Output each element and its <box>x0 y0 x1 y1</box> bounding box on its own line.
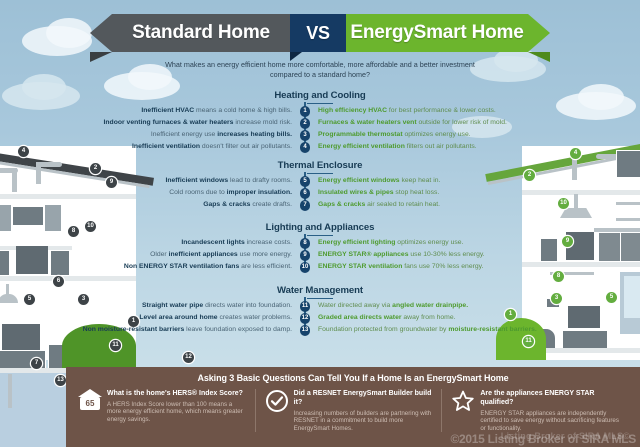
comparison-row: Cold rooms due to improper insulation.6I… <box>60 188 580 199</box>
section-water-management: Water ManagementStraight water pipe dire… <box>60 285 580 337</box>
standard-home-text: Inefficient ventilation doesn't filter o… <box>60 142 297 151</box>
pin-standard-5: 5 <box>24 294 35 305</box>
standard-home-banner: Standard Home <box>112 14 290 52</box>
pin-standard-11: 11 <box>110 340 121 351</box>
open-shelf <box>616 218 640 221</box>
section-rows: Incandescent lights increase costs.8Ener… <box>60 238 580 273</box>
comparison-row: Indoor venting furnaces & water heaters … <box>60 118 580 129</box>
row-number-connector: 9 <box>297 250 313 261</box>
vs-banner: VS <box>290 14 346 52</box>
standard-home-text: Cold rooms due to improper insulation. <box>60 188 297 197</box>
energysmart-home-text: Furnaces & water heaters vent outside fo… <box>313 118 550 127</box>
row-number-badge: 13 <box>300 325 311 336</box>
question-title: Did a RESNET EnergySmart Builder build i… <box>294 389 434 407</box>
standard-home-text: Incandescent lights increase costs. <box>60 238 297 247</box>
section-title: Water Management <box>60 285 580 299</box>
comparison-row: Inefficient ventilation doesn't filter o… <box>60 142 580 153</box>
row-number-badge: 7 <box>300 200 311 211</box>
section-rows: Inefficient HVAC means a cold home & hig… <box>60 106 580 153</box>
base-cabinet <box>598 232 622 262</box>
comparison-row: Straight water pipe directs water into f… <box>60 301 580 312</box>
infographic-canvas: 4 2 9 10 8 6 5 3 1 11 7 13 <box>0 0 640 447</box>
energysmart-home-text: Water directed away via angled water dra… <box>313 301 550 310</box>
pin-standard-12: 12 <box>183 352 194 363</box>
pin-standard-13: 13 <box>55 375 66 386</box>
section-thermal-enclosure: Thermal EnclosureInefficient windows lea… <box>60 160 580 212</box>
question-block: 65What is the home's HERS® Index Score?A… <box>78 389 255 432</box>
energysmart-home-text: High efficiency HVAC for best performanc… <box>313 106 550 115</box>
star-icon <box>451 389 475 413</box>
comparison-row: Non moisture-resistant barriers leave fo… <box>60 325 580 336</box>
cloud-2 <box>46 18 92 48</box>
bottom-heading: Asking 3 Basic Questions Can Tell You If… <box>66 367 640 383</box>
energysmart-home-text: ENERGY STAR® appliances use 10-30% less … <box>313 250 550 259</box>
pin-standard-4: 4 <box>18 146 29 157</box>
comparison-row: Inefficient HVAC means a cold home & hig… <box>60 106 580 117</box>
energysmart-home-text: Gaps & cracks air sealed to retain heat. <box>313 200 550 209</box>
standard-home-text: Indoor venting furnaces & water heaters … <box>60 118 297 127</box>
counter-line <box>594 228 640 232</box>
pin-standard-7: 7 <box>31 358 42 369</box>
bottom-panel: Asking 3 Basic Questions Can Tell You If… <box>66 367 640 447</box>
window-pane <box>624 276 640 318</box>
subtitle: What makes an energy efficient home more… <box>160 60 480 79</box>
row-number-connector: 7 <box>297 200 313 211</box>
standard-home-label: Standard Home <box>112 14 290 52</box>
question-body: Increasing numbers of builders are partn… <box>294 410 434 433</box>
open-shelf <box>616 202 640 205</box>
pin-energysmart-5: 5 <box>606 292 617 303</box>
row-number-badge: 5 <box>300 176 311 187</box>
question-body: ENERGY STAR appliances are independently… <box>480 410 620 433</box>
question-text: Are the appliances ENERGY STAR qualified… <box>480 389 620 432</box>
standard-home-text: Gaps & cracks create drafts. <box>60 200 297 209</box>
row-number-badge: 4 <box>300 142 311 153</box>
questions-row: 65What is the home's HERS® Index Score?A… <box>66 389 640 432</box>
energysmart-home-text: Insulated wires & pipes stop heat loss. <box>313 188 550 197</box>
row-number-connector: 3 <box>297 130 313 141</box>
energysmart-home-label: EnergySmart Home <box>346 14 528 52</box>
energysmart-home-text: Programmable thermostat optimizes energy… <box>313 130 550 139</box>
standard-home-text: Non ENERGY STAR ventilation fans are les… <box>60 262 297 271</box>
energysmart-home-text: Graded area directs water away from home… <box>313 313 550 322</box>
question-text: Did a RESNET EnergySmart Builder build i… <box>294 389 434 432</box>
question-block: Did a RESNET EnergySmart Builder build i… <box>255 389 442 432</box>
duct-pipe-4 <box>36 162 62 167</box>
row-number-connector: 6 <box>297 188 313 199</box>
row-number-connector: 13 <box>297 325 313 336</box>
section-title: Thermal Enclosure <box>60 160 580 174</box>
comparison-row: Inefficient energy use increases heating… <box>60 130 580 141</box>
row-number-badge: 1 <box>300 106 311 117</box>
energysmart-home-text: Energy efficient lighting optimizes ener… <box>313 238 550 247</box>
row-number-badge: 2 <box>300 118 311 129</box>
question-block: Are the appliances ENERGY STAR qualified… <box>441 389 628 432</box>
energysmart-home-banner: EnergySmart Home <box>346 14 528 52</box>
question-title: Are the appliances ENERGY STAR qualified… <box>480 389 620 407</box>
standard-home-text: Level area around home creates water pro… <box>60 313 297 322</box>
check-circle-icon <box>265 389 289 413</box>
row-number-connector: 10 <box>297 262 313 273</box>
comparison-row: Older inefficient appliances use more en… <box>60 250 580 261</box>
standard-home-text: Straight water pipe directs water into f… <box>60 301 297 310</box>
row-number-badge: 12 <box>300 313 311 324</box>
row-number-connector: 2 <box>297 118 313 129</box>
energysmart-home-text: Energy efficient ventilation filters out… <box>313 142 550 151</box>
standard-home-text: Older inefficient appliances use more en… <box>60 250 297 259</box>
vs-label: VS <box>290 14 346 52</box>
question-title: What is the home's HERS® Index Score? <box>107 389 247 398</box>
row-number-connector: 12 <box>297 313 313 324</box>
standard-home-text: Inefficient HVAC means a cold home & hig… <box>60 106 297 115</box>
section-rows: Straight water pipe directs water into f… <box>60 301 580 336</box>
section-heating-and-cooling: Heating and CoolingInefficient HVAC mean… <box>60 90 580 154</box>
base-cabinet <box>0 250 10 276</box>
pin-energysmart-11: 11 <box>523 336 534 347</box>
cloud-10 <box>578 84 624 110</box>
question-text: What is the home's HERS® Index Score?A H… <box>107 389 247 432</box>
basement-pipe-2 <box>8 374 12 408</box>
hvac-unit <box>616 150 640 178</box>
hers-score-value: 65 <box>80 397 100 410</box>
upper-cabinet <box>0 204 12 232</box>
energysmart-home-text: Energy efficient windows keep heat in. <box>313 176 550 185</box>
television <box>2 324 40 350</box>
comparison-row: Non ENERGY STAR ventilation fans are les… <box>60 262 580 273</box>
energysmart-home-text: ENERGY STAR ventilation fans use 70% les… <box>313 262 550 271</box>
standard-home-text: Inefficient windows lead to drafty rooms… <box>60 176 297 185</box>
row-number-connector: 8 <box>297 238 313 249</box>
question-body: A HERS Index Score lower than 100 means … <box>107 401 247 424</box>
row-number-badge: 8 <box>300 238 311 249</box>
comparison-row: Level area around home creates water pro… <box>60 313 580 324</box>
section-title: Heating and Cooling <box>60 90 580 104</box>
house-score-icon: 65 <box>78 389 102 413</box>
section-title: Lighting and Appliances <box>60 222 580 236</box>
comparison-row: Incandescent lights increase costs.8Ener… <box>60 238 580 249</box>
row-number-connector: 1 <box>297 106 313 117</box>
row-number-badge: 11 <box>300 301 311 312</box>
comparison-row: Inefficient windows lead to drafty rooms… <box>60 176 580 187</box>
base-cabinet <box>620 232 640 262</box>
standard-home-text: Non moisture-resistant barriers leave fo… <box>60 325 297 334</box>
oven-range <box>16 246 48 274</box>
row-number-badge: 10 <box>300 262 311 273</box>
row-number-badge: 6 <box>300 188 311 199</box>
standard-home-text: Inefficient energy use increases heating… <box>60 130 297 139</box>
section-lighting-and-appliances: Lighting and AppliancesIncandescent ligh… <box>60 222 580 274</box>
section-rows: Inefficient windows lead to drafty rooms… <box>60 176 580 211</box>
energysmart-home-text: Foundation protected from groundwater by… <box>313 325 550 334</box>
watermark-line1: ©2015 Listing Broker of SIRA MLS <box>451 432 637 446</box>
microwave <box>12 206 44 226</box>
row-number-badge: 3 <box>300 130 311 141</box>
duct-pipe-2 <box>12 168 17 192</box>
comparison-row: Gaps & cracks create drafts.7Gaps & crac… <box>60 200 580 211</box>
floor-line-1 <box>0 276 136 281</box>
row-number-connector: 5 <box>297 176 313 187</box>
row-number-connector: 11 <box>297 301 313 312</box>
row-number-connector: 4 <box>297 142 313 153</box>
row-number-badge: 9 <box>300 250 311 261</box>
